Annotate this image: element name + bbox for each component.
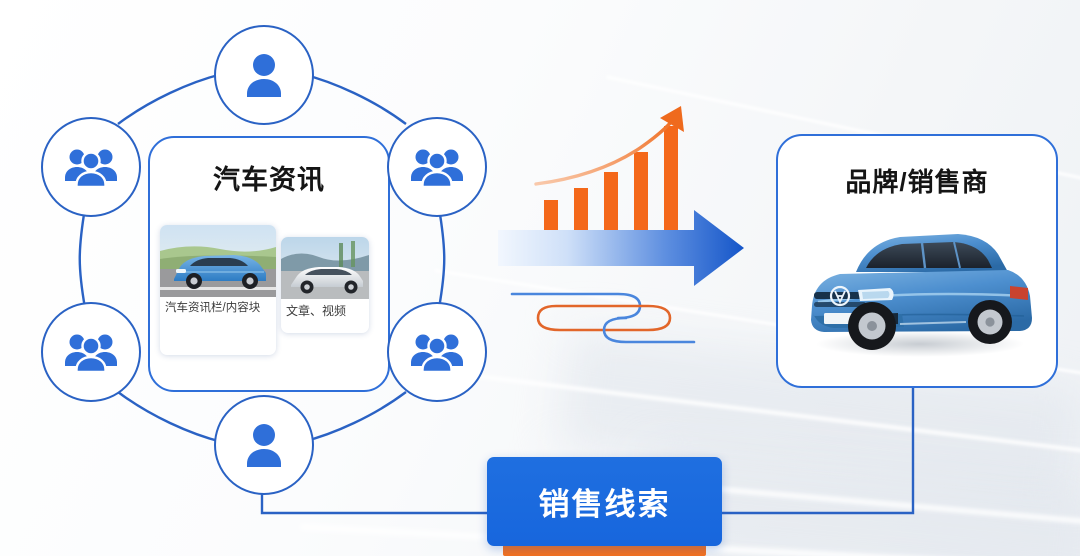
group-people-icon	[410, 147, 464, 187]
sales-leads-banner-label: 销售线索	[539, 479, 671, 524]
arc-left-upper-to-top	[118, 74, 222, 124]
content-card-secondary-label: 文章、视频	[281, 299, 369, 319]
brand-dealer-panel[interactable]: 品牌/销售商	[776, 134, 1058, 388]
group-people-icon	[64, 332, 118, 372]
audience-node-left-lower[interactable]	[41, 302, 141, 402]
audience-node-left-upper[interactable]	[41, 117, 141, 217]
blue-suv-product-photo	[794, 210, 1042, 362]
bar-4	[634, 152, 648, 230]
white-sedan-photo	[281, 237, 369, 299]
single-person-icon	[241, 53, 287, 97]
flow-arrow-right	[498, 210, 744, 286]
bar-5	[664, 126, 678, 230]
single-person-icon	[241, 423, 287, 467]
blue-suv-photo	[160, 225, 276, 297]
content-card-primary-label: 汽车资讯栏/内容块	[160, 297, 276, 316]
growth-flow-graphic	[498, 104, 748, 354]
arc-bottom-to-right-lower	[302, 392, 406, 442]
audience-node-top[interactable]	[214, 25, 314, 125]
group-people-icon	[410, 332, 464, 372]
sales-leads-banner[interactable]: 销售线索	[487, 457, 722, 546]
decor-loops	[512, 294, 694, 342]
arc-top-to-right-upper	[302, 74, 406, 124]
bar-1	[544, 200, 558, 230]
group-people-icon	[64, 147, 118, 187]
content-card-secondary[interactable]: 文章、视频	[281, 237, 369, 333]
arc-left-upper-to-left-lower	[80, 208, 85, 308]
diagram-canvas: 汽车资讯 汽车资讯栏/内容块	[0, 0, 1080, 556]
arc-right-upper-to-right-lower	[439, 208, 444, 308]
audience-node-right-upper[interactable]	[387, 117, 487, 217]
bar-3	[604, 172, 618, 230]
arc-left-lower-to-bottom	[118, 392, 222, 442]
lead-line-to-brand	[722, 386, 913, 513]
audience-node-right-lower[interactable]	[387, 302, 487, 402]
brand-dealer-panel-title: 品牌/销售商	[778, 162, 1056, 199]
content-card-primary[interactable]: 汽车资讯栏/内容块	[160, 225, 276, 355]
lead-line-from-audience	[262, 486, 487, 513]
auto-news-panel-title: 汽车资讯	[150, 158, 388, 197]
bar-2	[574, 188, 588, 230]
audience-node-bottom[interactable]	[214, 395, 314, 495]
